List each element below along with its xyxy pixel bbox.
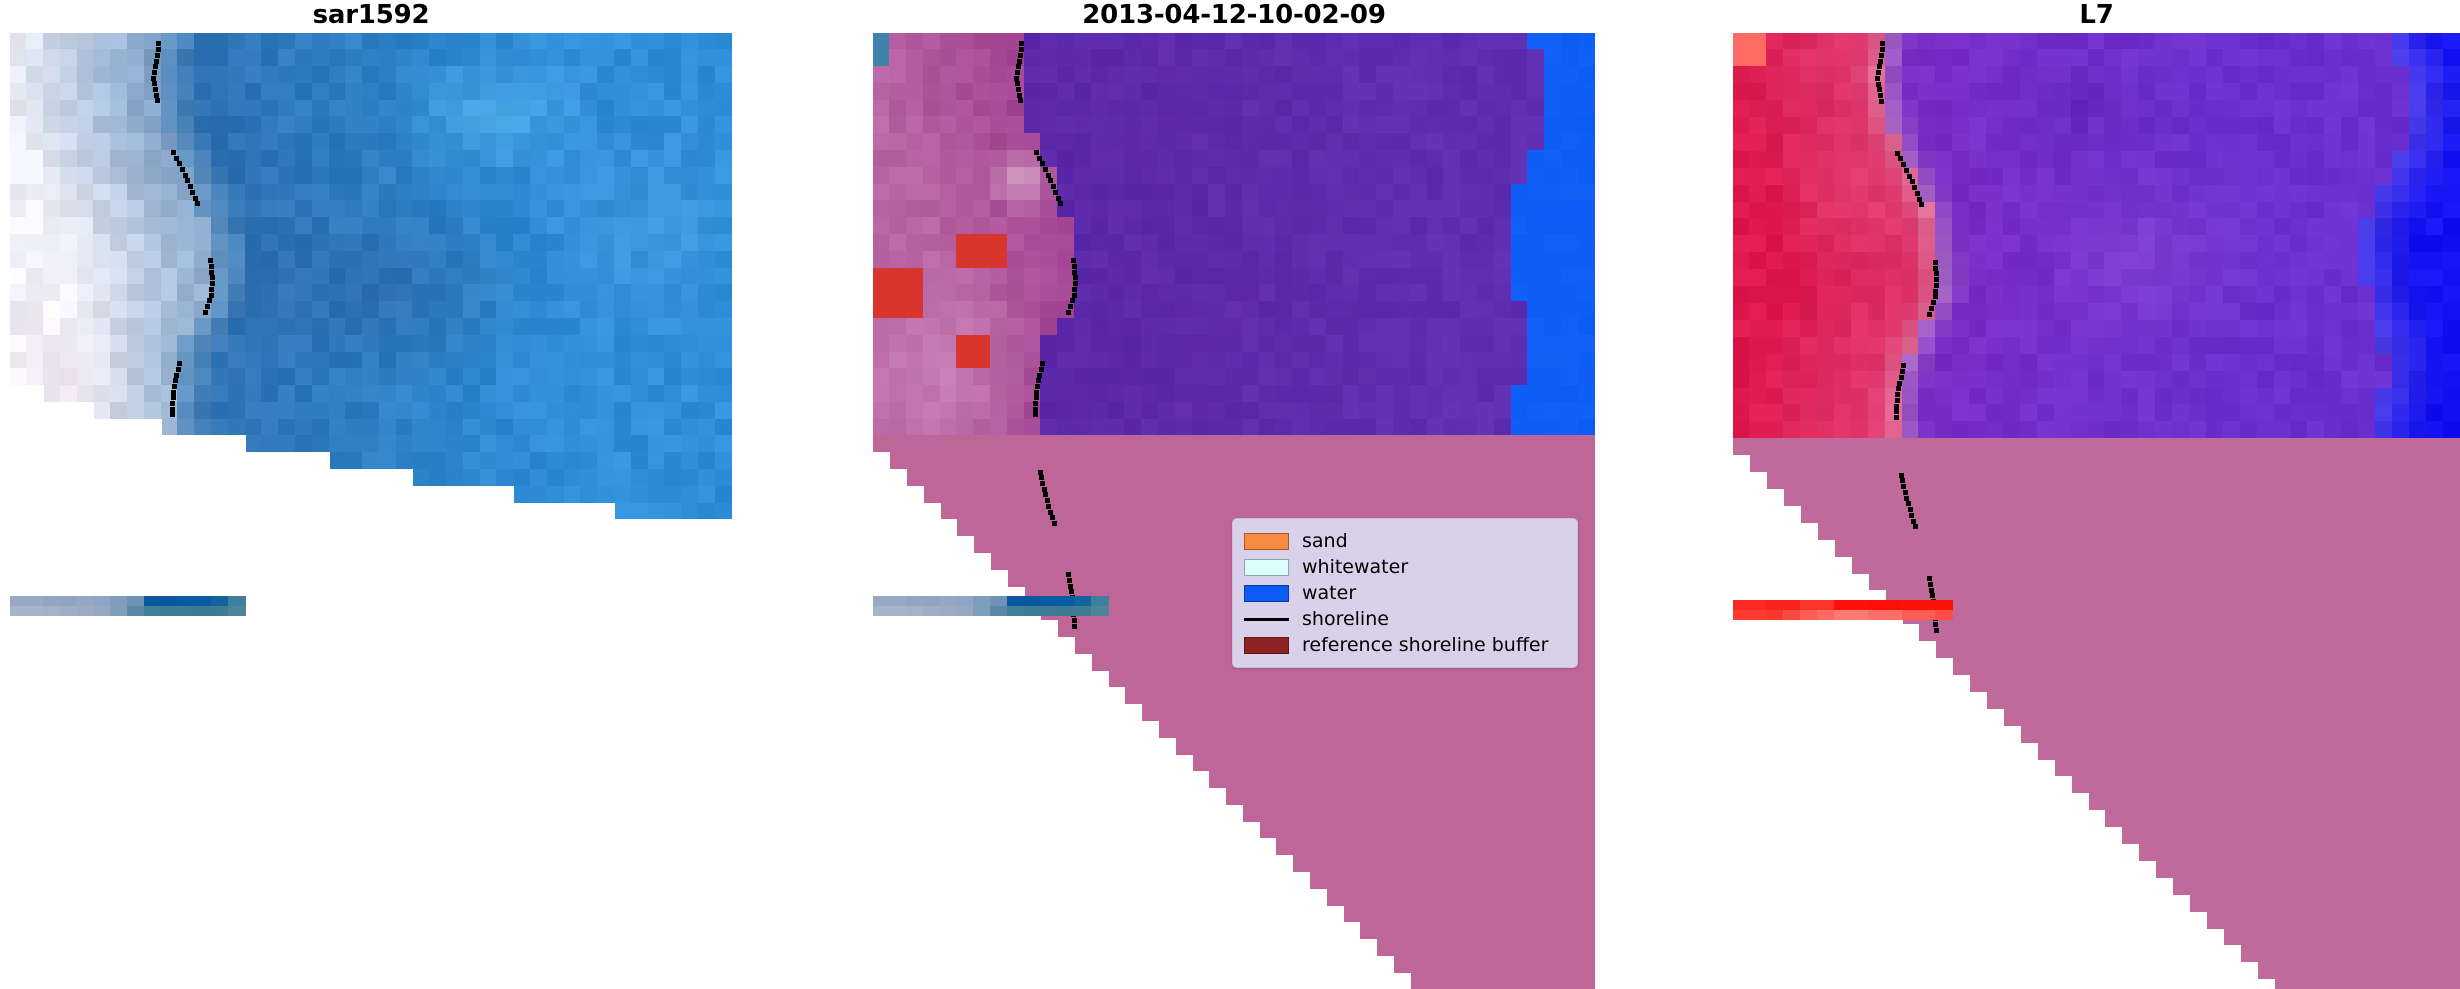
panel-l7: L7 [1733, 0, 2460, 989]
satellite-raster-sar1592 [10, 33, 732, 989]
classified-overlay-raster [873, 33, 1595, 989]
raster-holder-2 [1733, 33, 2460, 989]
legend-swatch-water-icon [1244, 585, 1289, 602]
panel-title-2: L7 [1733, 0, 2460, 33]
legend-item-sand: sand [1244, 528, 1566, 554]
class-legend: sandwhitewaterwatershorelinereference sh… [1232, 518, 1578, 668]
legend-label: shoreline [1302, 610, 1389, 629]
legend-swatch-reference-shoreline-buffer-icon [1244, 637, 1289, 654]
panel-title-1: 2013-04-12-10-02-09 [873, 0, 1595, 33]
legend-label: whitewater [1302, 558, 1408, 577]
legend-swatch-whitewater-icon [1244, 559, 1289, 576]
legend-label: water [1302, 584, 1356, 603]
panel-title-0: sar1592 [10, 0, 732, 33]
l7-composite-raster [1733, 33, 2460, 989]
legend-label: reference shoreline buffer [1302, 636, 1548, 655]
raster-holder-1 [873, 33, 1595, 989]
legend-item-water: water [1244, 580, 1566, 606]
legend-swatch-sand-icon [1244, 533, 1289, 550]
panel-sar1592: sar1592 [10, 0, 732, 989]
raster-holder-0 [10, 33, 732, 989]
legend-item-shoreline: shoreline [1244, 606, 1566, 632]
legend-label: sand [1302, 532, 1348, 551]
legend-item-reference-shoreline-buffer: reference shoreline buffer [1244, 632, 1566, 658]
panel-classification: 2013-04-12-10-02-09 [873, 0, 1595, 989]
shoreline-comparison-figure: sar1592 2013-04-12-10-02-09 L7 sandwhite… [0, 0, 2460, 989]
legend-swatch-shoreline-icon [1244, 611, 1289, 628]
legend-item-whitewater: whitewater [1244, 554, 1566, 580]
